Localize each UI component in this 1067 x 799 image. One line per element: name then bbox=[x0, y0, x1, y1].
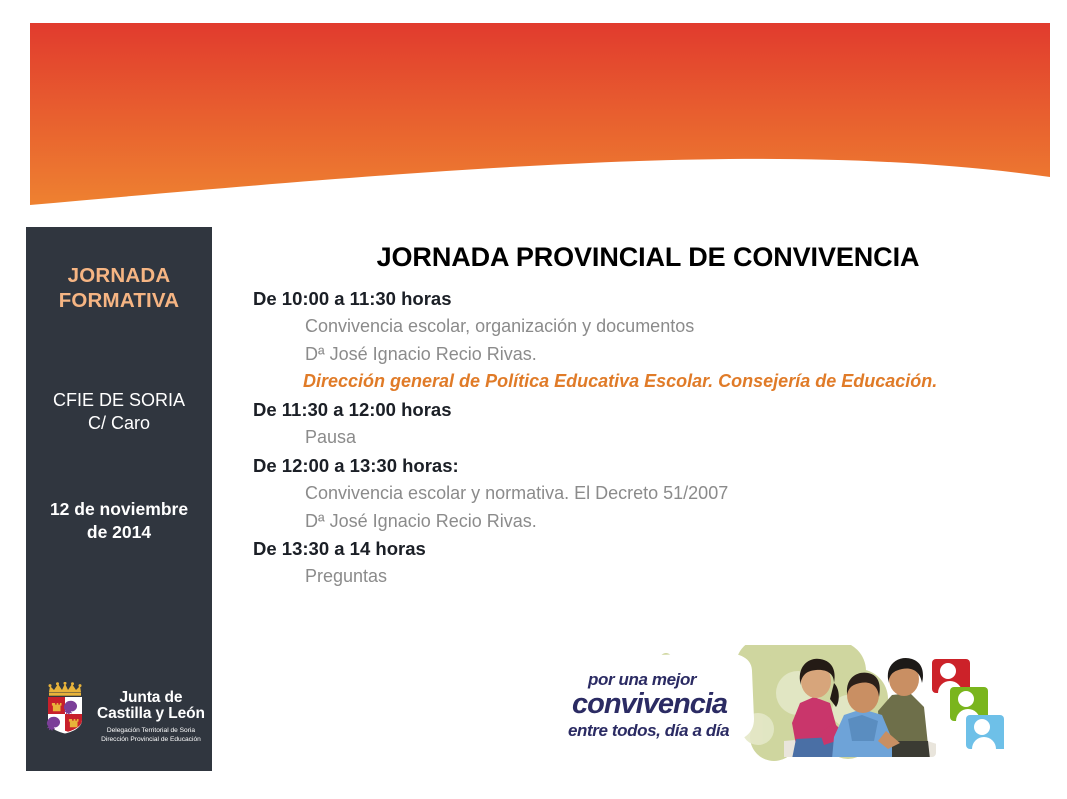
agenda-detail: Dª José Ignacio Recio Rivas. bbox=[253, 341, 1043, 369]
header-banner bbox=[30, 23, 1050, 205]
agenda-heading: De 10:00 a 11:30 horas bbox=[253, 285, 1043, 313]
svg-text:por una mejor: por una mejor bbox=[587, 670, 698, 689]
agenda-heading: De 11:30 a 12:00 horas bbox=[253, 396, 1043, 424]
agenda-detail: Dª José Ignacio Recio Rivas. bbox=[253, 508, 1043, 536]
sidebar-venue: CFIE DE SORIA C/ Caro bbox=[34, 389, 204, 434]
junta-word-line-1: Junta de bbox=[97, 690, 205, 706]
junta-wordmark: Junta de Castilla y León Delegación Terr… bbox=[97, 682, 205, 745]
convivencia-campaign-logo: por una mejor convivencia entre todos, d… bbox=[548, 645, 1008, 770]
person-icon-blue bbox=[966, 715, 1004, 749]
person-icon-group bbox=[932, 659, 1004, 749]
sidebar-panel: JORNADA FORMATIVA CFIE DE SORIA C/ Caro … bbox=[26, 227, 212, 771]
junta-sub-line-1: Delegación Territorial de Soria bbox=[97, 726, 205, 736]
agenda-detail-accent: Dirección general de Política Educativa … bbox=[253, 368, 1043, 396]
svg-text:convivencia: convivencia bbox=[572, 688, 728, 720]
svg-text:entre todos, día a día: entre todos, día a día bbox=[568, 721, 729, 740]
agenda-list: De 10:00 a 11:30 horasConvivencia escola… bbox=[253, 285, 1043, 591]
junta-sub-line-2: Dirección Provincial de Educación bbox=[97, 735, 205, 745]
junta-shield-crown-icon bbox=[40, 682, 90, 734]
junta-word-line-2: Castilla y León bbox=[97, 706, 205, 722]
agenda-detail: Convivencia escolar, organización y docu… bbox=[253, 313, 1043, 341]
agenda-detail: Preguntas bbox=[253, 563, 1043, 591]
junta-castilla-y-leon-logo: Junta de Castilla y León Delegación Terr… bbox=[40, 682, 212, 745]
sidebar-date-line-2: de 2014 bbox=[34, 521, 204, 544]
page-title: JORNADA PROVINCIAL DE CONVIVENCIA bbox=[253, 242, 1043, 273]
sidebar-title: JORNADA FORMATIVA bbox=[34, 263, 204, 313]
sidebar-venue-line-2: C/ Caro bbox=[34, 412, 204, 435]
agenda-detail: Convivencia escolar y normativa. El Decr… bbox=[253, 480, 1043, 508]
agenda-detail: Pausa bbox=[253, 424, 1043, 452]
sidebar-title-line-1: JORNADA bbox=[34, 263, 204, 288]
sidebar-date-line-1: 12 de noviembre bbox=[34, 498, 204, 521]
sidebar-title-line-2: FORMATIVA bbox=[34, 288, 204, 313]
sidebar-date: 12 de noviembre de 2014 bbox=[34, 498, 204, 544]
agenda-heading: De 12:00 a 13:30 horas: bbox=[253, 452, 1043, 480]
agenda-heading: De 13:30 a 14 horas bbox=[253, 535, 1043, 563]
sidebar-venue-line-1: CFIE DE SORIA bbox=[34, 389, 204, 412]
